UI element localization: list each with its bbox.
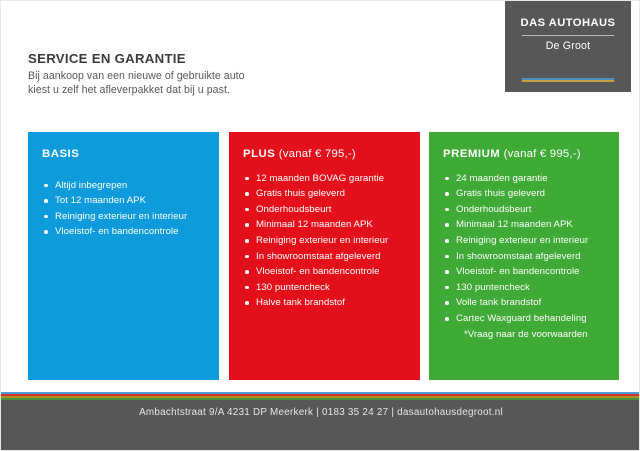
list-item: Reiniging exterieur en interieur xyxy=(243,233,408,249)
heading-block: SERVICE EN GARANTIE Bij aankoop van een … xyxy=(28,51,328,98)
service-garantie-flyer: SERVICE EN GARANTIE Bij aankoop van een … xyxy=(0,0,640,451)
logo-company-name: DAS AUTOHAUS xyxy=(505,17,631,30)
logo: DAS AUTOHAUS De Groot xyxy=(505,1,631,92)
list-item: Volle tank brandstof xyxy=(443,295,607,311)
list-item: 24 maanden garantie xyxy=(443,171,607,187)
logo-text-group: DAS AUTOHAUS De Groot xyxy=(505,17,631,53)
logo-divider-icon xyxy=(522,35,614,36)
list-item: Gratis thuis geleverd xyxy=(443,186,607,202)
list-item: Onderhoudsbeurt xyxy=(243,202,408,218)
list-item: Vloeistof- en bandencontrole xyxy=(42,224,207,240)
package-card-basis[interactable]: BASIS Altijd inbegrepen Tot 12 maanden A… xyxy=(28,132,219,380)
package-title-basis: BASIS xyxy=(42,148,207,162)
package-feature-list-basis: Altijd inbegrepen Tot 12 maanden APK Rei… xyxy=(42,178,207,240)
package-card-plus[interactable]: PLUS (vanaf € 795,-) 12 maanden BOVAG ga… xyxy=(229,132,420,380)
list-item: Cartec Waxguard behandeling xyxy=(443,311,607,327)
package-price-premium: (vanaf € 995,-) xyxy=(504,148,581,160)
footer-accent-stripes-icon xyxy=(1,392,640,400)
package-footnote-premium: *Vraag naar de voorwaarden xyxy=(443,327,607,343)
header-subtitle-line-1: Bij aankoop van een nieuwe of gebruikte … xyxy=(28,69,328,83)
logo-stripe-gold xyxy=(522,80,614,82)
package-tier-basis: BASIS xyxy=(42,148,79,160)
logo-company-subname: De Groot xyxy=(505,40,631,53)
list-item: Halve tank brandstof xyxy=(243,295,408,311)
package-columns: BASIS Altijd inbegrepen Tot 12 maanden A… xyxy=(1,132,640,380)
list-item: Minimaal 12 maanden APK xyxy=(443,217,607,233)
package-title-premium: PREMIUM (vanaf € 995,-) xyxy=(443,148,607,162)
list-item: Reiniging exterieur en interieur xyxy=(443,233,607,249)
list-item: 130 puntencheck xyxy=(443,280,607,296)
header: SERVICE EN GARANTIE Bij aankoop van een … xyxy=(1,1,640,119)
list-item: 130 puntencheck xyxy=(243,280,408,296)
list-item: Vloeistof- en bandencontrole xyxy=(443,264,607,280)
list-item: Reiniging exterieur en interieur xyxy=(42,209,207,225)
list-item: Minimaal 12 maanden APK xyxy=(243,217,408,233)
package-price-plus: (vanaf € 795,-) xyxy=(279,148,356,160)
footer: Ambachtstraat 9/A 4231 DP Meerkerk | 018… xyxy=(1,392,640,450)
list-item: Gratis thuis geleverd xyxy=(243,186,408,202)
list-item: In showroomstaat afgeleverd xyxy=(243,249,408,265)
list-item: Altijd inbegrepen xyxy=(42,178,207,194)
list-item: 12 maanden BOVAG garantie xyxy=(243,171,408,187)
list-item: Tot 12 maanden APK xyxy=(42,193,207,209)
list-item: Vloeistof- en bandencontrole xyxy=(243,264,408,280)
logo-accent-stripes-icon xyxy=(522,78,614,82)
page-title: SERVICE EN GARANTIE xyxy=(28,51,328,66)
header-subtitle-line-2: kiest u zelf het afleverpakket dat bij u… xyxy=(28,83,328,97)
package-feature-list-plus: 12 maanden BOVAG garantie Gratis thuis g… xyxy=(243,171,408,311)
package-title-plus: PLUS (vanaf € 795,-) xyxy=(243,148,408,162)
package-card-premium[interactable]: PREMIUM (vanaf € 995,-) 24 maanden garan… xyxy=(429,132,619,380)
package-feature-list-premium: 24 maanden garantie Gratis thuis gelever… xyxy=(443,171,607,343)
footer-contact-info: Ambachtstraat 9/A 4231 DP Meerkerk | 018… xyxy=(1,407,640,418)
list-item: Onderhoudsbeurt xyxy=(443,202,607,218)
list-item: In showroomstaat afgeleverd xyxy=(443,249,607,265)
package-tier-premium: PREMIUM xyxy=(443,148,500,160)
package-tier-plus: PLUS xyxy=(243,148,275,160)
